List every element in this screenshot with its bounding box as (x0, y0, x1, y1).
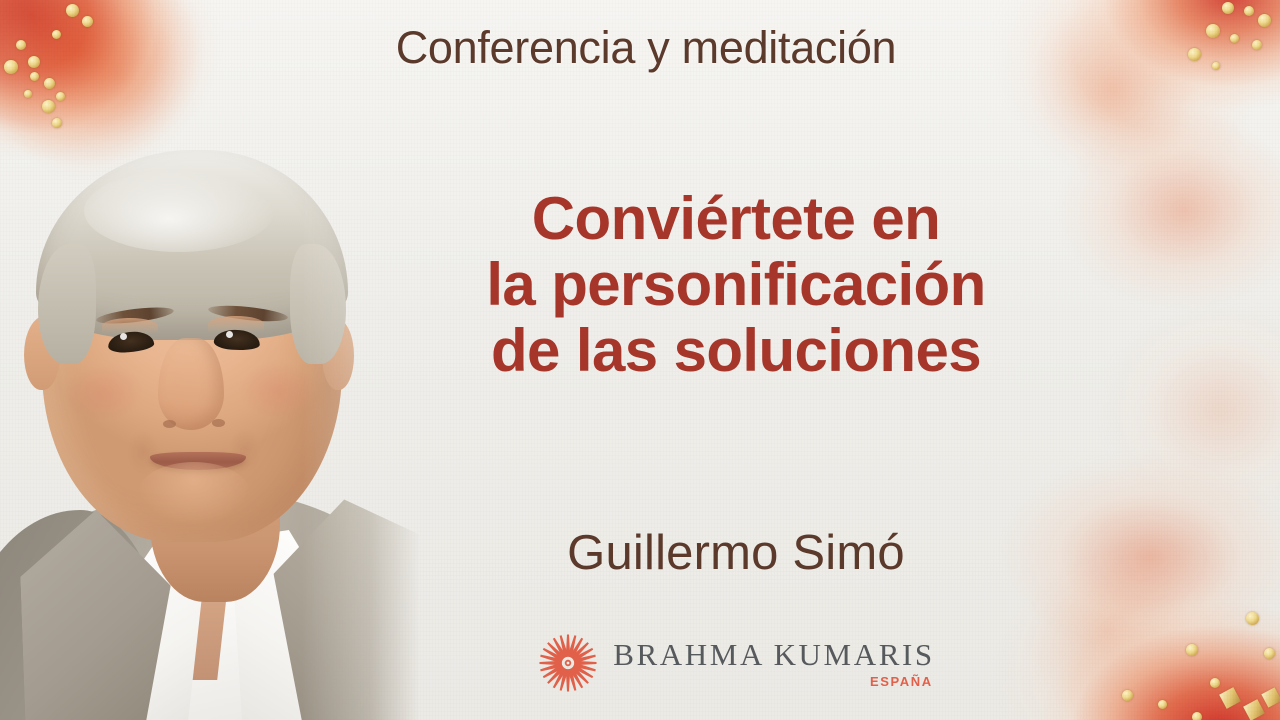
slide-canvas: Conferencia y meditación Conviértete en … (0, 0, 1280, 720)
speaker-name: Guillermo Simó (404, 527, 1068, 580)
text-content: Conferencia y meditación Conviértete en … (0, 0, 1280, 720)
logo-subtitle: ESPAÑA (870, 675, 933, 688)
title-line-3: de las soluciones (404, 318, 1068, 384)
page-title: Conviértete en la personificación de las… (404, 186, 1068, 384)
brahma-kumaris-logo: BRAHMA KUMARIS ESPAÑA (404, 620, 1068, 706)
title-line-2: la personificación (404, 252, 1068, 318)
sunburst-icon (537, 632, 599, 694)
event-kicker: Conferencia y meditación (0, 24, 1280, 72)
logo-name: BRAHMA KUMARIS (613, 639, 935, 670)
logo-wordmark: BRAHMA KUMARIS ESPAÑA (613, 639, 935, 688)
title-line-1: Conviértete en (404, 186, 1068, 252)
